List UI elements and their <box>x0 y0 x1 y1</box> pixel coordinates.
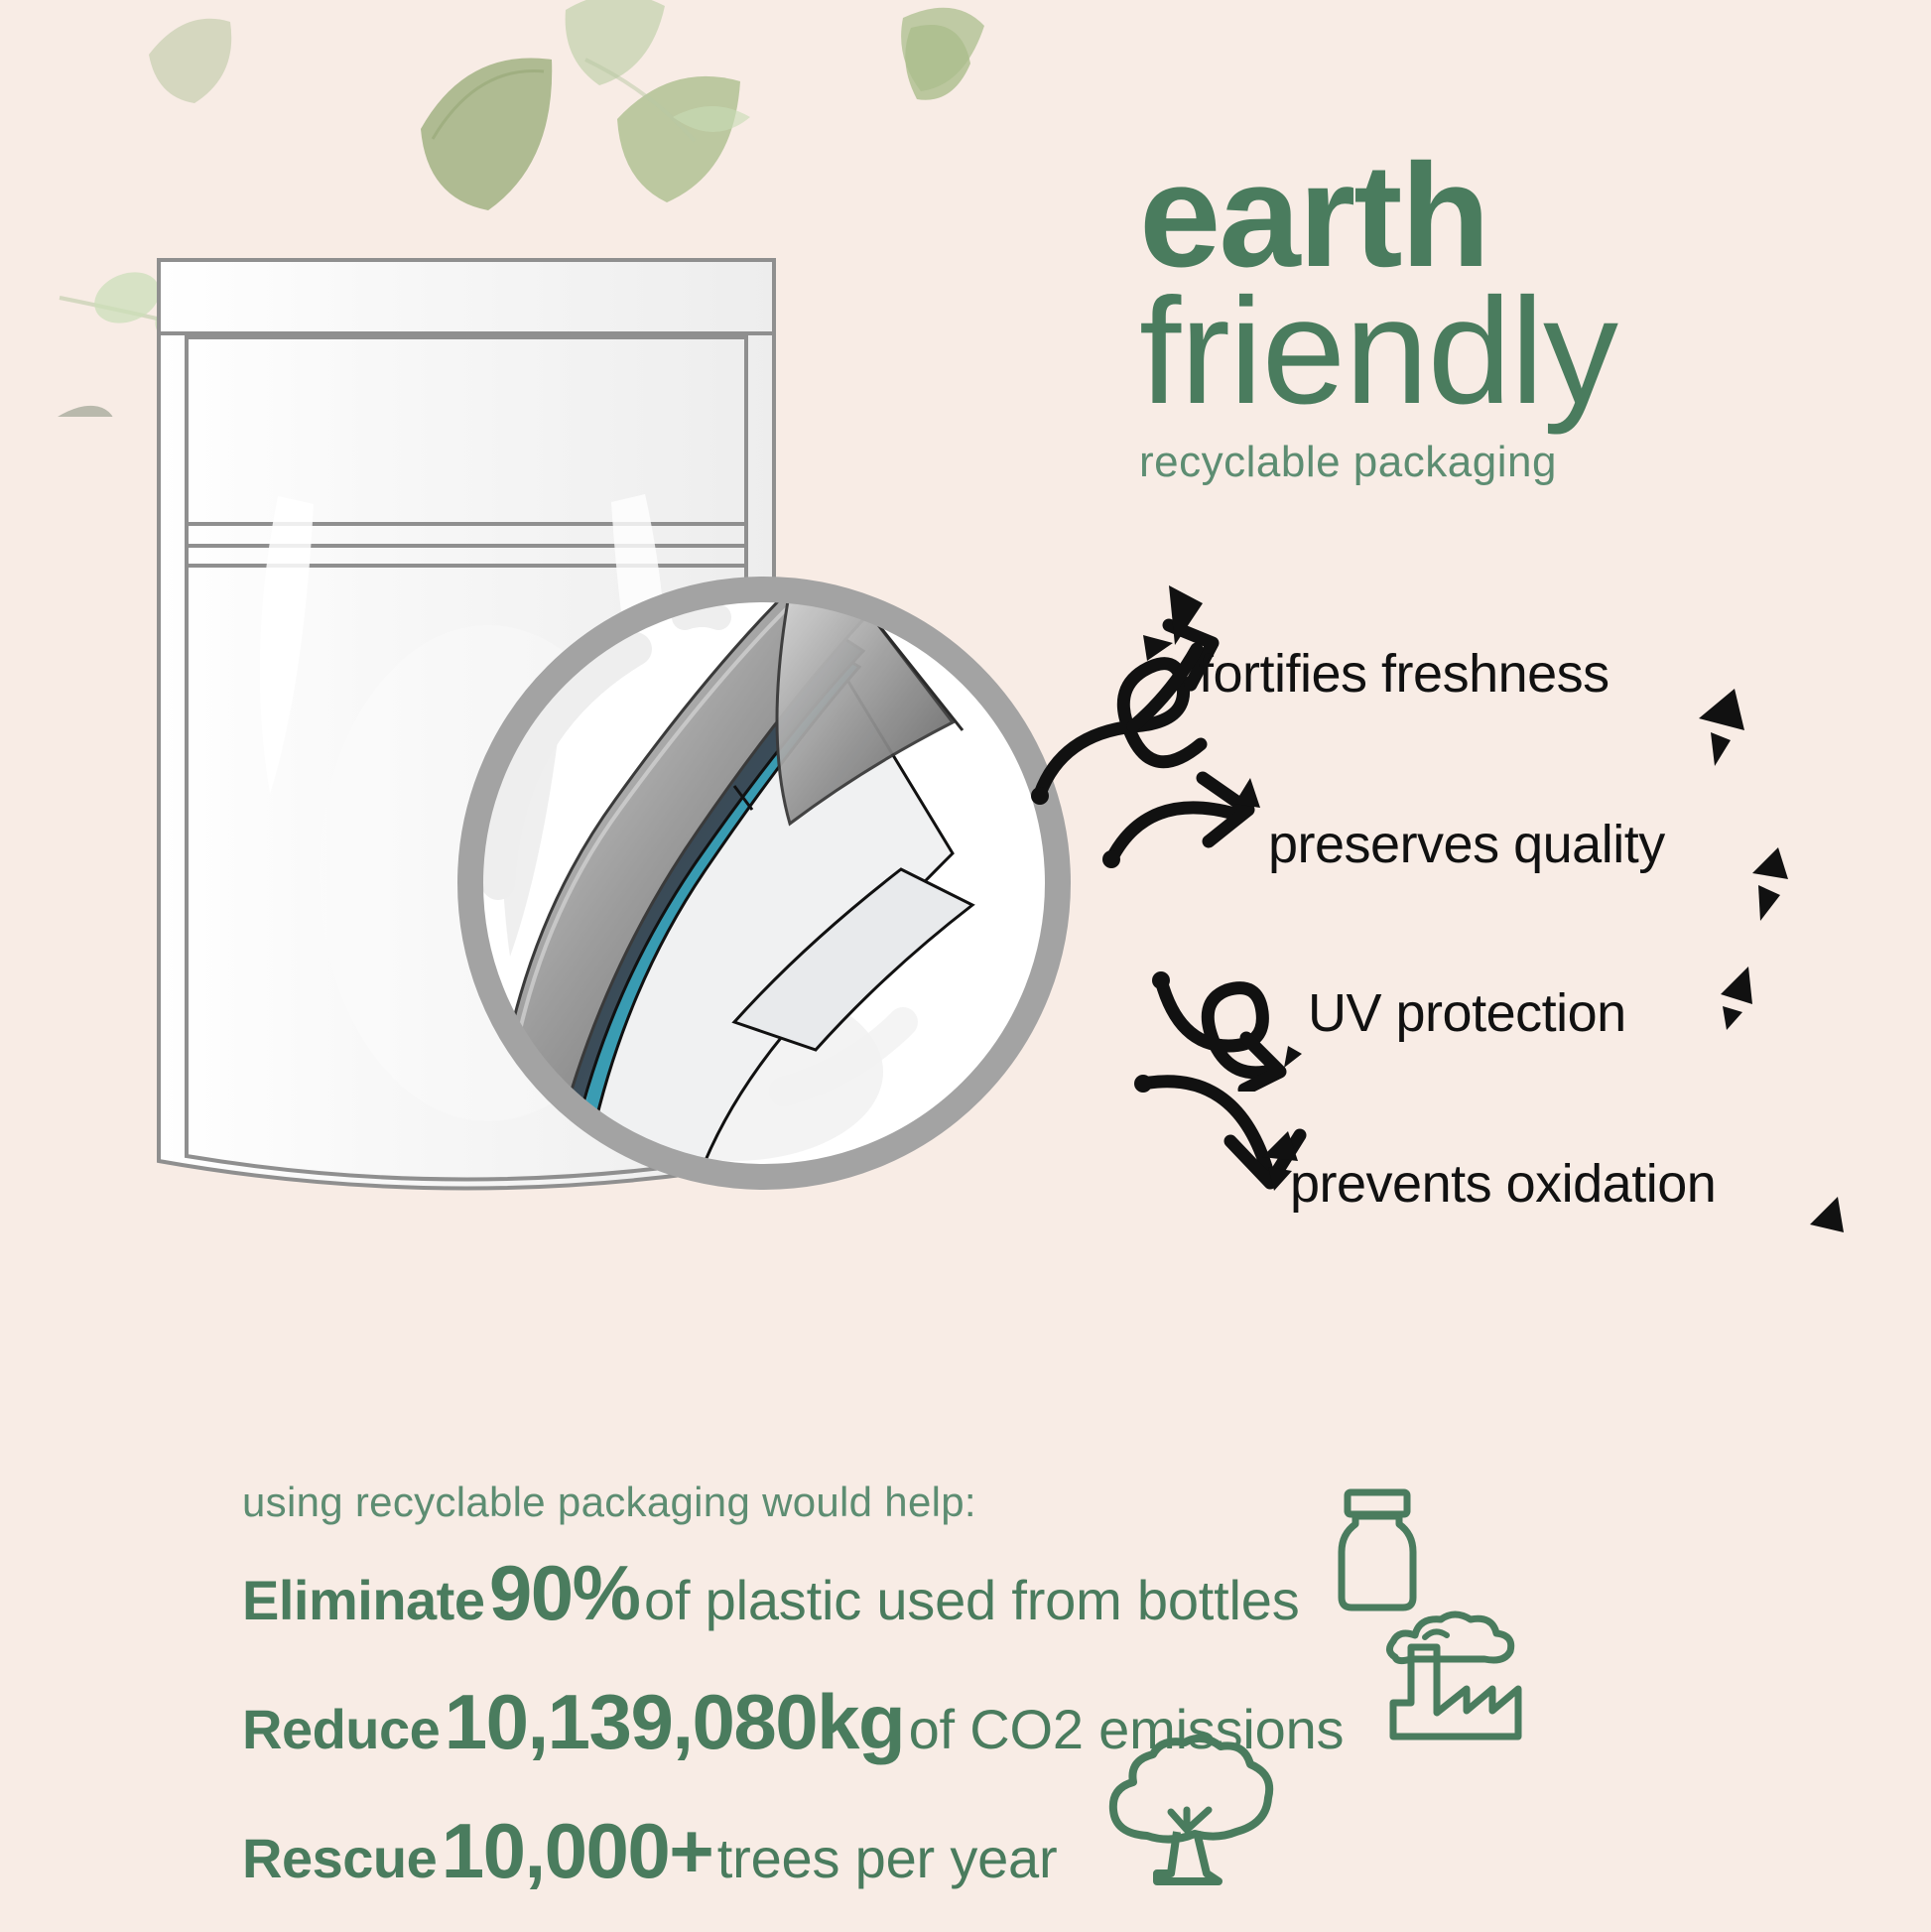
page-subtitle: recyclable packaging <box>1139 438 1913 487</box>
infographic-canvas: earth friendly recyclable packaging fort… <box>0 0 1931 1932</box>
decorative-leaf-top-right <box>893 0 1151 139</box>
feature-label-prevents-oxidation: prevents oxidation <box>1290 1153 1716 1215</box>
feature-label-uv-protection: UV protection <box>1308 982 1626 1044</box>
feature-label-preserves-quality: preserves quality <box>1268 814 1665 875</box>
stat-number: 90% <box>489 1549 640 1636</box>
stat-number: 10,000+ <box>442 1807 713 1894</box>
sparkle-icon <box>1687 965 1776 1044</box>
sparkle-icon <box>1675 685 1764 774</box>
magnified-film-layers <box>437 556 1092 1211</box>
headline-block: earth friendly recyclable packaging <box>1139 149 1913 487</box>
stat-number: 10,139,080kg <box>445 1678 904 1765</box>
stat-rest: of plastic used from bottles <box>644 1569 1300 1631</box>
stat-row-plastic: Eliminate 90% of plastic used from bottl… <box>242 1548 1300 1638</box>
bottle-icon <box>1330 1486 1449 1615</box>
sparkle-icon <box>1786 1191 1866 1270</box>
page-title-line1: earth <box>1139 149 1913 284</box>
stat-verb: Reduce <box>242 1698 440 1760</box>
stats-intro-text: using recyclable packaging would help: <box>242 1479 976 1526</box>
stat-verb: Eliminate <box>242 1569 484 1631</box>
sparkle-icon <box>1731 843 1810 933</box>
stat-rest: trees per year <box>717 1827 1058 1889</box>
factory-icon <box>1381 1608 1530 1751</box>
stat-verb: Rescue <box>242 1827 437 1889</box>
tree-icon <box>1099 1735 1283 1898</box>
page-title-line2: friendly <box>1139 278 1913 426</box>
stat-row-trees: Rescue 10,000+ trees per year <box>242 1806 1057 1896</box>
feature-label-fortifies-freshness: fortifies freshness <box>1199 643 1609 705</box>
